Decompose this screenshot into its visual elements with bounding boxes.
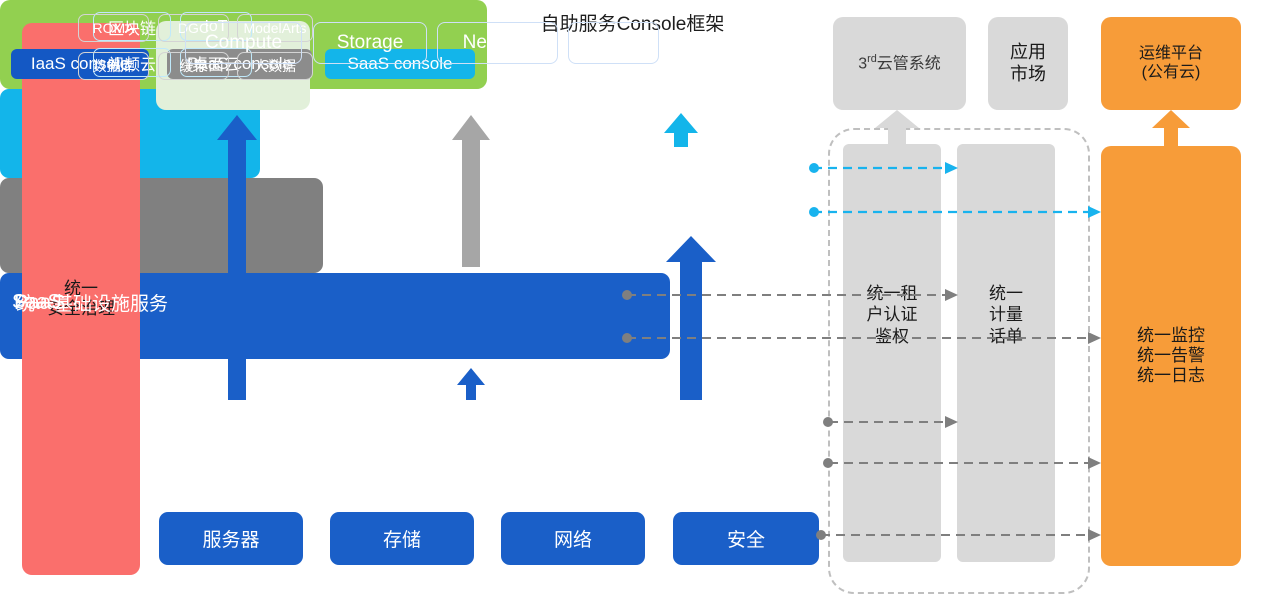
infra-chip-network[interactable]: Network bbox=[437, 22, 558, 64]
arrow-infra-to-paas bbox=[457, 368, 485, 400]
ops-top-line1: 运维平台 bbox=[1139, 45, 1203, 64]
infra-chip-cce[interactable]: CCE bbox=[568, 22, 659, 64]
arrow-paas-to-console bbox=[452, 115, 490, 267]
unified-infrastructure-service-bar: 统一基础设施服务 Compute Storage Network CCE bbox=[0, 273, 670, 359]
arrow-saas-to-saas-console bbox=[664, 113, 698, 147]
bottom-box-security: 安全 bbox=[673, 512, 819, 565]
shared-service-column-billing bbox=[957, 144, 1055, 562]
unified-monitoring-panel: 统一监控 统一告警 统一日志 bbox=[1101, 146, 1241, 566]
shared-service-billing-label: 统一 计量 话单 bbox=[957, 283, 1055, 347]
ops-panel-line3: 统一日志 bbox=[1137, 366, 1205, 386]
ops-top-line2: (公有云) bbox=[1139, 64, 1203, 83]
app-market-line1: 应用 bbox=[1010, 42, 1046, 63]
bottom-box-server: 服务器 bbox=[159, 512, 303, 565]
app-market-box: 应用 市场 bbox=[988, 17, 1068, 110]
arrow-infra-to-saas bbox=[666, 236, 716, 400]
architecture-diagram: 统一 安全治理 API网关 自助服务Console框架 IaaS console… bbox=[0, 0, 1265, 605]
shared-service-auth-label: 统一租 户认证 鉴权 bbox=[843, 283, 941, 347]
infrastructure-label: 统一基础设施服务 bbox=[16, 0, 168, 605]
ops-panel-line2: 统一告警 bbox=[1137, 346, 1205, 366]
arrow-ops-panel-to-ops-top bbox=[1152, 110, 1190, 146]
bottom-box-network: 网络 bbox=[501, 512, 645, 565]
infra-chip-storage[interactable]: Storage bbox=[313, 22, 427, 64]
ops-panel-line1: 统一监控 bbox=[1137, 326, 1205, 346]
third-cloud-label: 3rd云管系统 bbox=[858, 53, 941, 74]
ops-platform-public-cloud-box: 运维平台 (公有云) bbox=[1101, 17, 1241, 110]
bottom-box-storage: 存储 bbox=[330, 512, 474, 565]
shared-service-column-auth bbox=[843, 144, 941, 562]
infra-chip-compute[interactable]: Compute bbox=[185, 22, 302, 64]
third-party-cloud-management-box: 3rd云管系统 bbox=[833, 17, 966, 110]
app-market-line2: 市场 bbox=[1010, 64, 1046, 85]
